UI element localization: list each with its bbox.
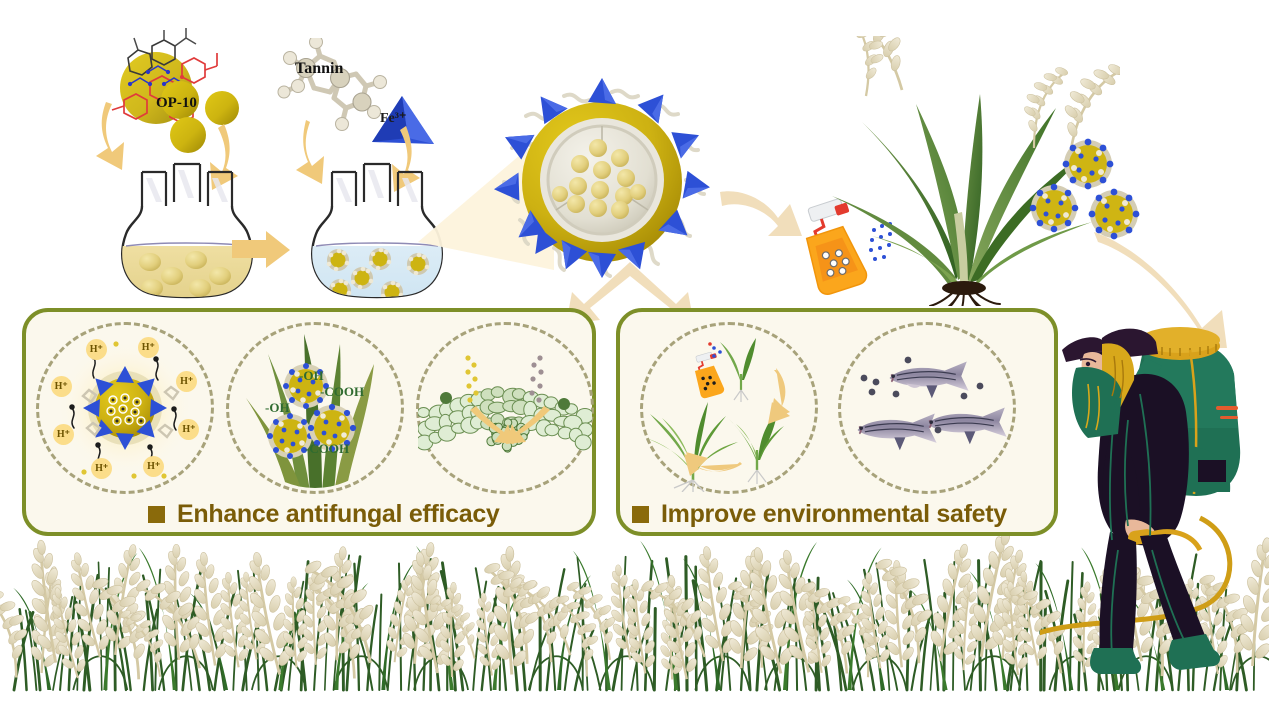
- tannin-label: Tannin: [295, 60, 343, 78]
- functional-group-oh-2: -OH: [265, 400, 290, 416]
- functional-group-cooh-2: -COOH: [305, 441, 349, 457]
- farmer-with-backpack-sprayer: [1040, 288, 1260, 700]
- panel-environmental-label: Improve environmental safety: [632, 500, 1007, 529]
- graphical-abstract: OP-10 Tannin Fe³⁺: [0, 0, 1269, 714]
- reaction-arrow: [232, 230, 294, 270]
- fish-3: [928, 407, 1007, 444]
- fish-2: [858, 413, 937, 450]
- proton-ion: H⁺: [91, 458, 112, 479]
- proton-ion: H⁺: [176, 371, 197, 392]
- leaf-adhesion-illustration: [228, 324, 402, 492]
- zebrafish-illustration: [840, 324, 1014, 492]
- proton-ion: H⁺: [143, 456, 164, 477]
- panel-environmental-text: Improve environmental safety: [661, 500, 1007, 529]
- functional-group-oh-1: -OH: [299, 368, 324, 384]
- panel-antifungal-text: Enhance antifungal efficacy: [177, 500, 500, 529]
- fish-1: [890, 361, 969, 398]
- panel-antifungal-label: Enhance antifungal efficacy: [148, 500, 500, 529]
- growth-cycle-illustration: [642, 324, 816, 492]
- bullet-square-antifungal: [148, 506, 165, 523]
- nanoparticle-structure: [486, 78, 716, 288]
- functional-group-cooh-1: -COOH: [320, 384, 364, 400]
- ph-release-illustration: [38, 324, 212, 492]
- bullet-square-environmental: [632, 506, 649, 523]
- proton-ion: H⁺: [51, 376, 72, 397]
- leaf-cross-section-illustration: [418, 324, 592, 492]
